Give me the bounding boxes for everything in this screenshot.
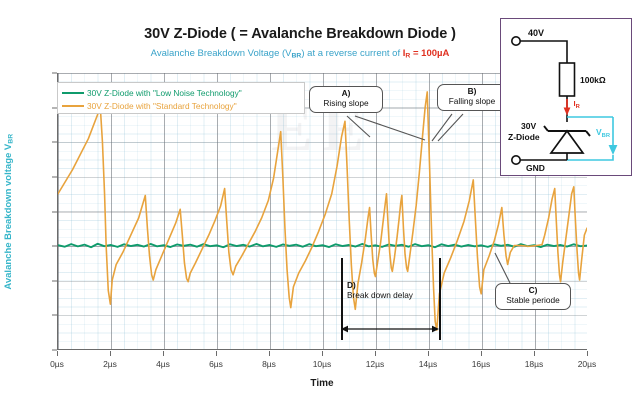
subtitle-vbr: BR: [292, 48, 302, 59]
resistor-symbol: [560, 63, 575, 96]
x-tick-label: 8µs: [249, 359, 289, 369]
legend-label-standard: 30V Z-Diode with "Standard Technology": [87, 101, 237, 111]
supply-label: 40V: [528, 28, 544, 38]
top-wire: [520, 41, 567, 63]
voltage-label: VBR: [596, 127, 611, 139]
x-tick-mark: [587, 351, 588, 356]
legend-swatch-standard: [62, 105, 84, 107]
current-label: IR: [574, 99, 581, 110]
x-tick-label: 0µs: [37, 359, 77, 369]
d-text: Break down delay: [347, 290, 413, 300]
x-tick-mark: [428, 351, 429, 356]
x-tick-mark: [57, 351, 58, 356]
annotation-b-falling-slope: B)Falling slope: [437, 84, 507, 111]
x-tick-mark: [163, 351, 164, 356]
x-tick-label: 4µs: [143, 359, 183, 369]
x-tick-label: 16µs: [461, 359, 501, 369]
circuit-diagram: 40V 100kΩ IR VBR: [500, 18, 632, 176]
x-axis-title: Time: [57, 378, 587, 389]
d-tag: D): [347, 280, 441, 290]
legend-swatch-low-noise: [62, 92, 84, 94]
x-tick-mark: [322, 351, 323, 356]
x-tick-mark: [110, 351, 111, 356]
diode-label-line2: Z-Diode: [508, 132, 540, 142]
x-tick-label: 18µs: [514, 359, 554, 369]
subtitle-pre: Avalanche Breakdown Voltage (V: [151, 48, 292, 59]
x-tick-label: 12µs: [355, 359, 395, 369]
legend-item-standard: 30V Z-Diode with "Standard Technology": [62, 99, 300, 112]
x-tick-mark: [534, 351, 535, 356]
ground-terminal-node: [512, 156, 520, 164]
annotation-c-stable-periode: C)Stable periode: [495, 283, 571, 310]
x-tick-label: 6µs: [196, 359, 236, 369]
series-low-noise-technology: [58, 244, 587, 247]
annotation-a-rising-slope: A)Rising slope: [309, 86, 383, 113]
resistor-label: 100kΩ: [580, 75, 606, 85]
subtitle-mid: ) at a reverse current of: [301, 48, 402, 59]
x-axis-ticks: 0µs2µs4µs6µs8µs10µs12µs14µs16µs18µs20µs: [0, 351, 640, 375]
x-tick-label: 20µs: [567, 359, 607, 369]
zener-diode-symbol: [544, 126, 590, 160]
supply-terminal-node: [512, 37, 520, 45]
diode-label-line1: 30V: [521, 121, 536, 131]
chart-legend: 30V Z-Diode with "Low Noise Technology" …: [57, 82, 305, 114]
y-tick-mark: [52, 211, 57, 212]
annotation-d-break-down-delay: D) Break down delay: [341, 258, 441, 344]
d-double-arrow-icon: [341, 324, 439, 334]
subtitle-ir: IR = 100µA: [403, 48, 450, 59]
legend-label-low-noise: 30V Z-Diode with "Low Noise Technology": [87, 88, 242, 98]
reverse-current-arrow-icon: [564, 99, 571, 116]
x-tick-label: 2µs: [90, 359, 130, 369]
x-tick-mark: [481, 351, 482, 356]
y-tick-mark: [52, 142, 57, 143]
y-tick-mark: [52, 280, 57, 281]
x-tick-label: 14µs: [408, 359, 448, 369]
y-tick-mark: [52, 73, 57, 74]
x-tick-mark: [269, 351, 270, 356]
y-tick-mark: [52, 246, 57, 247]
y-tick-mark: [52, 176, 57, 177]
y-tick-mark: [52, 315, 57, 316]
x-tick-mark: [375, 351, 376, 356]
x-tick-label: 10µs: [302, 359, 342, 369]
ground-label: GND: [526, 163, 545, 173]
legend-item-low-noise: 30V Z-Diode with "Low Noise Technology": [62, 86, 300, 99]
x-tick-mark: [216, 351, 217, 356]
